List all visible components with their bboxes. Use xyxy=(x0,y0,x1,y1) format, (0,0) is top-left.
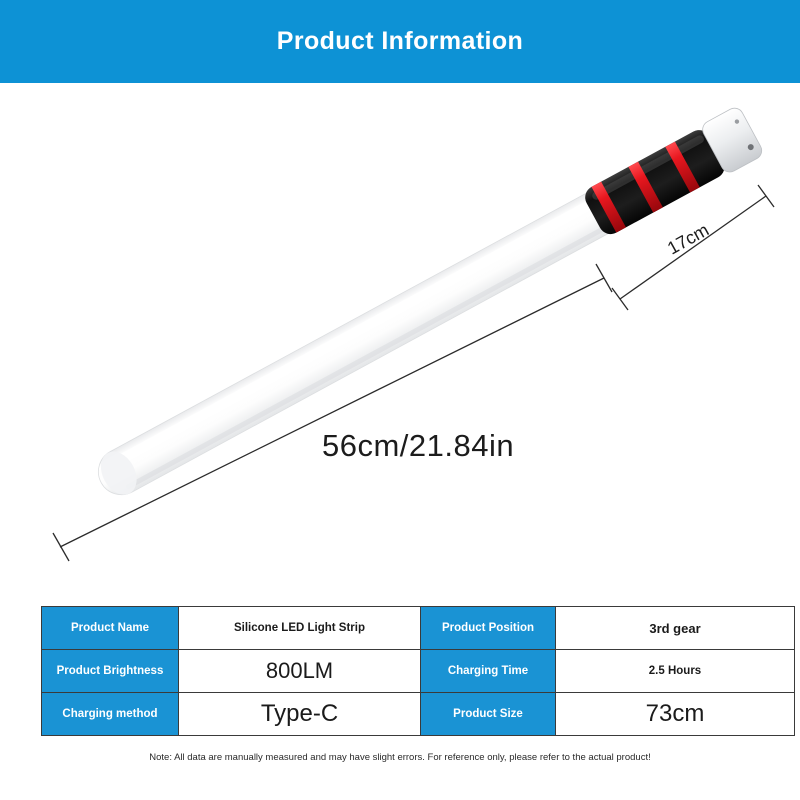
page-title: Product Information xyxy=(277,27,523,56)
spec-value-product-position: 3rd gear xyxy=(556,607,795,650)
length-dimension-line xyxy=(53,264,612,561)
spec-value-charging-time: 2.5 Hours xyxy=(556,650,795,693)
header-banner: Product Information xyxy=(0,0,800,83)
product-illustration xyxy=(0,83,800,588)
spec-label-product-position: Product Position xyxy=(421,607,556,650)
table-row: Charging method Type-C Product Size 73cm xyxy=(42,693,795,736)
spec-value-product-name: Silicone LED Light Strip xyxy=(179,607,421,650)
spec-value-charging-method: Type-C xyxy=(179,693,421,736)
footer-note: Note: All data are manually measured and… xyxy=(0,752,800,763)
spec-value-product-brightness: 800LM xyxy=(179,650,421,693)
spec-label-product-size: Product Size xyxy=(421,693,556,736)
table-row: Product Brightness 800LM Charging Time 2… xyxy=(42,650,795,693)
table-row: Product Name Silicone LED Light Strip Pr… xyxy=(42,607,795,650)
spec-label-charging-method: Charging method xyxy=(42,693,179,736)
spec-label-product-brightness: Product Brightness xyxy=(42,650,179,693)
product-image-area: 56cm/21.84in 17cm xyxy=(0,83,800,588)
handle-group xyxy=(580,105,765,240)
spec-value-product-size: 73cm xyxy=(556,693,795,736)
spec-label-product-name: Product Name xyxy=(42,607,179,650)
length-dimension-label: 56cm/21.84in xyxy=(322,428,514,464)
specification-table: Product Name Silicone LED Light Strip Pr… xyxy=(41,606,795,736)
spec-label-charging-time: Charging Time xyxy=(421,650,556,693)
